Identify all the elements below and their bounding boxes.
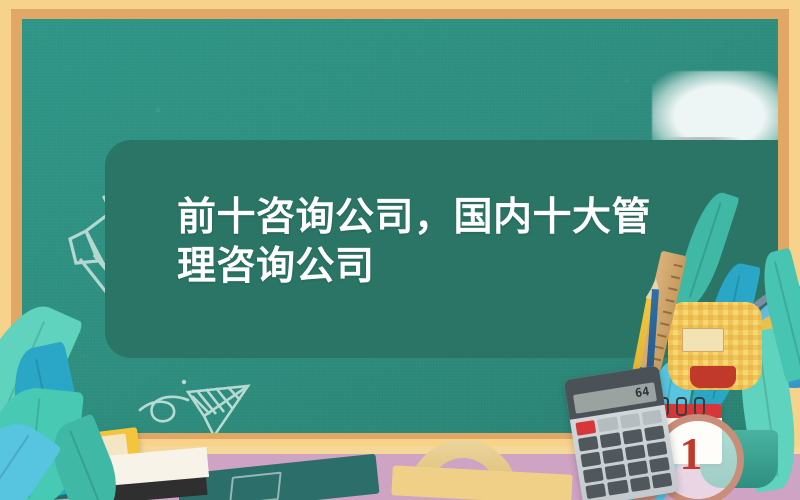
page-title-line-2: 理咨询公司 bbox=[177, 242, 697, 291]
backpack-icon bbox=[668, 302, 762, 390]
backpack-pocket bbox=[690, 366, 736, 388]
backpack-label bbox=[682, 328, 724, 352]
paper-plane-doodle bbox=[118, 374, 268, 433]
page-title-line-1: 前十咨询公司，国内十大管 bbox=[177, 193, 697, 242]
page-title: 前十咨询公司，国内十大管 理咨询公司 bbox=[177, 193, 697, 291]
banner-canvas: 前十咨询公司，国内十大管 理咨询公司 1 bbox=[0, 0, 800, 500]
calculator-display-value: 64 bbox=[634, 384, 650, 400]
calculator-icon: 64 bbox=[564, 365, 679, 500]
calculator-keypad bbox=[575, 410, 672, 500]
